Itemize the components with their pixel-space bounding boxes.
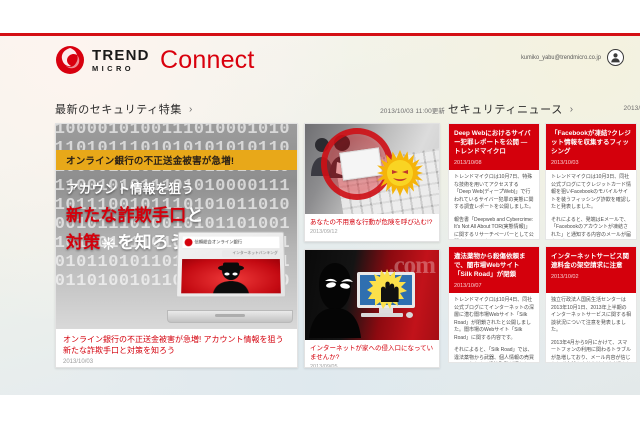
hero-headline-line2-red: 新たな詐欺手口	[66, 206, 186, 225]
bank-logo-icon	[184, 239, 192, 247]
news-card-date: 2013/10/03	[551, 160, 631, 166]
connect-portal-page: TREND MICRO Connect kumiko_yabu@trendmic…	[0, 0, 640, 426]
hero-caption-title[interactable]: オンライン銀行の不正送金被害が急増! アカウント情報を狙う新たな詐欺手口と対策を…	[63, 334, 290, 356]
news-paragraph: 独立行政法人国民生活センターは2013年10月1日、2013年上半期のインターネ…	[551, 297, 631, 335]
brand-wordmark: TREND MICRO	[92, 48, 150, 73]
hero-headline-line3-red: 対策	[66, 228, 100, 253]
sparkle-icon	[102, 235, 115, 248]
account-email: kumiko_yabu@trendmicro.co.jp	[521, 54, 601, 61]
thumb-caption-title[interactable]: あなたの不用意な行動が危険を呼び込む!?	[310, 218, 434, 227]
hero-headline-line2: 新たな詐欺手口と	[66, 201, 204, 226]
news-paragraph: トレンドマイクロは10月7日、特殊な技術を用いてアクセスする「Deep Web(…	[454, 174, 534, 212]
warning-sunburst-icon	[377, 150, 423, 196]
thumb-caption-date: 2013/09/12	[310, 229, 434, 235]
news-card-date: 2013/10/08	[454, 160, 534, 166]
page-header: TREND MICRO Connect kumiko_yabu@trendmic…	[0, 36, 640, 94]
news-section-header[interactable]: セキュリティニュース › 2013/1	[448, 99, 640, 119]
thumb-caption: インターネットが家への侵入口になっていませんか? 2013/09/05	[305, 341, 439, 368]
thumb-caption: あなたの不用意な行動が危険を呼び込む!? 2013/09/12	[305, 215, 439, 235]
account-area[interactable]: kumiko_yabu@trendmicro.co.jp	[521, 49, 624, 66]
product-name: Connect	[160, 46, 255, 75]
thumb-caption-title[interactable]: インターネットが家への侵入口になっていませんか?	[310, 344, 434, 362]
security-news-list: Deep Webにおけるサイバー犯罪レポートを公開 — トレンドマイクロ 201…	[448, 123, 640, 368]
news-card-body: 独立行政法人国民生活センターは2013年10月1日、2013年上半期のインターネ…	[546, 293, 636, 363]
bank-name-label: 信頼総合オンライン銀行	[194, 239, 242, 245]
hero-artwork: 01000010100111010001010 0110101110101010…	[56, 124, 297, 329]
hero-headline-line1: アカウント情報を狙う	[66, 178, 204, 197]
news-card[interactable]: 「Facebookが凍結?クレジット情報を収集するフィッシング 2013/10/…	[545, 123, 637, 240]
news-card-title[interactable]: Deep Webにおけるサイバー犯罪レポートを公開 — トレンドマイクロ	[454, 129, 534, 156]
featured-articles: 01000010100111010001010 0110101110101010…	[55, 123, 440, 368]
news-card-date: 2013/10/07	[454, 283, 534, 289]
news-paragraph: それによると、「Silk Road」では、違法薬物から武器、個人情報の売買まで、…	[454, 347, 534, 363]
bank-site-header: 信頼総合オンライン銀行	[182, 237, 279, 250]
featured-section-header[interactable]: 最新のセキュリティ特集 › 2013/10/03 11:00更新	[55, 99, 445, 119]
news-card-date: 2013/10/02	[551, 274, 631, 280]
brand-trend-text: TREND	[92, 48, 150, 63]
chevron-right-icon[interactable]: ›	[189, 104, 192, 115]
hero-caption-date: 2013/10/03	[63, 359, 290, 365]
thumb-artwork-office	[305, 124, 439, 214]
hacker-silhouette-icon	[209, 261, 254, 293]
news-card-title[interactable]: 違法薬物から殺傷依頼まで、闇市場Webサイト「Silk Road」が閉鎖	[454, 252, 534, 279]
monitor-keyboard	[361, 313, 403, 317]
news-section-title: セキュリティニュース	[448, 101, 563, 117]
trend-micro-logo-icon	[55, 45, 85, 75]
news-card-title[interactable]: 「Facebookが凍結?クレジット情報を収集するフィッシング	[551, 129, 631, 156]
hero-article-card[interactable]: 01000010100111010001010 0110101110101010…	[55, 123, 298, 368]
news-card-body: トレンドマイクロは10月4日、同社公式ブログにてインターネットの深層に潜む闇市場…	[449, 293, 539, 363]
hero-ribbon-banner: オンライン銀行の不正送金被害が急増!	[56, 150, 297, 170]
brand-lockup[interactable]: TREND MICRO	[55, 45, 150, 75]
news-card[interactable]: 違法薬物から殺傷依頼まで、闇市場Webサイト「Silk Road」が閉鎖 201…	[448, 246, 540, 363]
news-updated-timestamp: 2013/1	[624, 105, 640, 112]
chevron-right-icon[interactable]: ›	[570, 104, 573, 115]
laptop-screen: 信頼総合オンライン銀行 インターネットバンキング	[176, 232, 286, 298]
computer-monitor-illustration	[357, 272, 415, 316]
laptop-base	[167, 310, 293, 323]
stop-hand-burst-icon	[367, 269, 407, 309]
news-paragraph: 2013年4月から9月にかけて、スマートフォンの利用に関わるトラブルが急増してお…	[551, 340, 631, 364]
news-card[interactable]: インターネットサービス関連料金の架空請求に注意 2013/10/02 独立行政法…	[545, 246, 637, 363]
news-card-header: Deep Webにおけるサイバー犯罪レポートを公開 — トレンドマイクロ 201…	[449, 124, 539, 170]
news-paragraph: それによると、発端はEメールで、「Facebookのアカウントが凍結された」と通…	[551, 217, 631, 241]
news-card[interactable]: Deep Webにおけるサイバー犯罪レポートを公開 — トレンドマイクロ 201…	[448, 123, 540, 240]
hero-ribbon-text: オンライン銀行の不正送金被害が急増!	[56, 153, 234, 167]
featured-thumb-card[interactable]: あなたの不用意な行動が危険を呼び込む!? 2013/09/12	[304, 123, 440, 242]
monitor-mouse	[406, 312, 413, 318]
news-card-title[interactable]: インターネットサービス関連料金の架空請求に注意	[551, 252, 631, 270]
featured-thumb-card[interactable]: .com	[304, 249, 440, 368]
news-paragraph: トレンドマイクロは10月4日、同社公式ブログにてインターネットの深層に潜む闇市場…	[454, 297, 534, 342]
news-paragraph: 報告書「Deepweb and Cybercrime: It's Not All…	[454, 217, 534, 241]
bank-sub-label: インターネットバンキング	[222, 250, 280, 257]
featured-updated-timestamp: 2013/10/03 11:00更新	[380, 105, 445, 115]
phishing-overlay	[181, 259, 281, 293]
brand-micro-text: MICRO	[92, 65, 150, 73]
laptop-illustration: 信頼総合オンライン銀行 インターネットバンキング	[167, 231, 293, 323]
hero-headline-line2-white: と	[186, 206, 203, 225]
news-card-header: インターネットサービス関連料金の架空請求に注意 2013/10/02	[546, 247, 636, 293]
featured-section-title: 最新のセキュリティ特集	[55, 101, 182, 117]
thumb-caption-date: 2013/09/05	[310, 364, 434, 368]
news-card-body: トレンドマイクロは10月7日、特殊な技術を用いてアクセスする「Deep Web(…	[449, 170, 539, 240]
hero-caption: オンライン銀行の不正送金被害が急増! アカウント情報を狙う新たな詐欺手口と対策を…	[56, 330, 297, 368]
news-card-body: トレンドマイクロは10月3日、同社公式ブログにてクレジットカード情報を狙いFac…	[546, 170, 636, 240]
user-account-icon[interactable]	[607, 49, 624, 66]
thumb-artwork-intrusion: .com	[305, 250, 439, 340]
news-card-header: 「Facebookが凍結?クレジット情報を収集するフィッシング 2013/10/…	[546, 124, 636, 170]
news-card-header: 違法薬物から殺傷依頼まで、闇市場Webサイト「Silk Road」が閉鎖 201…	[449, 247, 539, 293]
news-paragraph: トレンドマイクロは10月3日、同社公式ブログにてクレジットカード情報を狙いFac…	[551, 174, 631, 212]
